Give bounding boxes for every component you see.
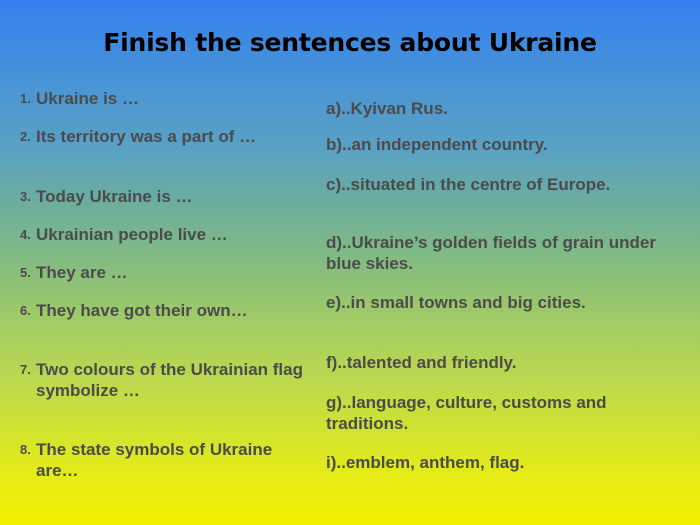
list-item: f)..talented and friendly. bbox=[326, 352, 678, 373]
list-item-label: Ukrainian people live … bbox=[36, 224, 325, 245]
list-item: e)..in small towns and big cities. bbox=[326, 292, 678, 313]
list-item: b)..an independent country. bbox=[326, 134, 678, 155]
list-item-number: 7. bbox=[0, 359, 36, 380]
list-item-label: The state symbols of Ukraine are… bbox=[36, 439, 325, 481]
list-item: 7. Two colours of the Ukrainian flag sym… bbox=[0, 359, 325, 401]
list-item: d)..Ukraine’s golden fields of grain und… bbox=[326, 232, 678, 274]
list-item-number: 1. bbox=[0, 88, 36, 109]
slide-canvas: Finish the sentences about Ukraine 1. Uk… bbox=[0, 0, 700, 525]
list-item-label: Today Ukraine is … bbox=[36, 186, 325, 207]
list-item: g)..language, culture, customs and tradi… bbox=[326, 392, 678, 434]
list-item-label: Ukraine is … bbox=[36, 88, 325, 109]
list-item-number: 2. bbox=[0, 126, 36, 147]
list-item-number: 3. bbox=[0, 186, 36, 207]
list-item: 6. They have got their own… bbox=[0, 300, 325, 321]
list-item: 4. Ukrainian people live … bbox=[0, 224, 325, 245]
list-item-label: Its territory was a part of … bbox=[36, 126, 325, 147]
list-item: 8. The state symbols of Ukraine are… bbox=[0, 439, 325, 481]
list-item: 3. Today Ukraine is … bbox=[0, 186, 325, 207]
list-item: 1. Ukraine is … bbox=[0, 88, 325, 109]
list-item-number: 6. bbox=[0, 300, 36, 321]
list-item: 5. They are … bbox=[0, 262, 325, 283]
list-item: c)..situated in the centre of Europe. bbox=[326, 174, 678, 195]
page-title: Finish the sentences about Ukraine bbox=[0, 28, 700, 58]
list-item-label: They have got their own… bbox=[36, 300, 325, 321]
list-item-number: 4. bbox=[0, 224, 36, 245]
list-item-number: 8. bbox=[0, 439, 36, 460]
list-item: a)..Kyivan Rus. bbox=[326, 98, 678, 119]
list-item: 2. Its territory was a part of … bbox=[0, 126, 325, 147]
list-item-number: 5. bbox=[0, 262, 36, 283]
list-item: i)..emblem, anthem, flag. bbox=[326, 452, 678, 473]
list-item-label: They are … bbox=[36, 262, 325, 283]
list-item-label: Two colours of the Ukrainian flag symbol… bbox=[36, 359, 325, 401]
